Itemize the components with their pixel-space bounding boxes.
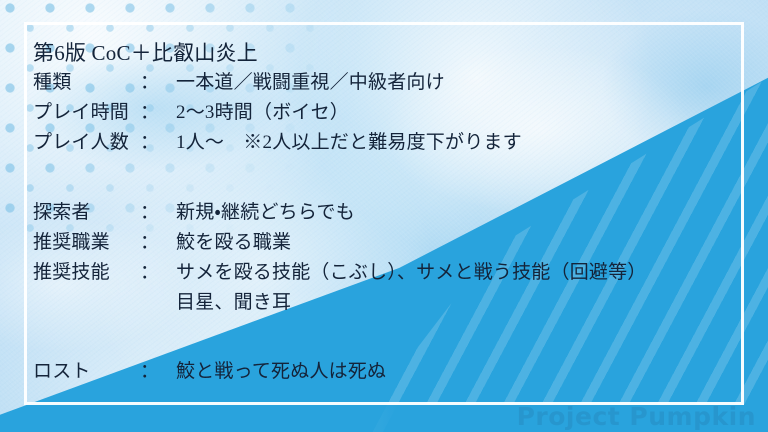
info-colon: ： [140,258,176,288]
info-row: ロスト ： 鮫と戦って死ぬ人は死ぬ [33,357,733,387]
info-row: 種類 ： 一本道／戦闘重視／中級者向け [33,68,733,98]
info-row: 探索者 ： 新規・継続どちらでも [33,198,733,228]
info-label: 推奨技能 [33,258,140,288]
info-value: 新規・継続どちらでも [176,198,733,228]
info-value: 一本道／戦闘重視／中級者向け [176,68,733,98]
info-row: プレイ時間 ： 2〜3時間（ボイセ） [33,98,733,128]
info-value: 2〜3時間（ボイセ） [176,98,733,128]
info-value: 鮫と戦って死ぬ人は死ぬ [176,357,733,387]
scenario-info-slide: Project Pumpkin 第6版 CoC＋比叡山炎上 種類 ： 一本道／戦… [0,0,768,432]
info-row: 推奨技能 ： サメを殴る技能（こぶし）、サメと戦う技能（回避等） [33,258,733,288]
info-value: 目星、聞き耳 [176,288,733,318]
info-value: 1人〜 ※2人以上だと難易度下がります [176,128,733,158]
info-label: 推奨職業 [33,228,140,258]
info-colon: ： [140,128,176,158]
info-label: 種類 [33,68,140,98]
info-colon: ： [140,198,176,228]
info-colon: ： [140,98,176,128]
info-row: 推奨職業 ： 鮫を殴る職業 [33,228,733,258]
info-label: 探索者 [33,198,140,228]
info-value: 鮫を殴る職業 [176,228,733,258]
info-label: ロスト [33,357,140,387]
info-colon: ： [140,357,176,387]
info-label: プレイ時間 [33,98,140,128]
info-group-recommendations: 探索者 ： 新規・継続どちらでも 推奨職業 ： 鮫を殴る職業 推奨技能 ： サメ… [33,198,733,318]
info-row-continuation: ： 目星、聞き耳 [33,288,733,318]
section-spacer [33,158,733,198]
info-row: プレイ人数 ： 1人〜 ※2人以上だと難易度下がります [33,128,733,158]
info-group-lost: ロスト ： 鮫と戦って死ぬ人は死ぬ [33,357,733,387]
info-value: サメを殴る技能（こぶし）、サメと戦う技能（回避等） [176,258,733,288]
section-spacer [33,318,733,357]
project-pumpkin-watermark: Project Pumpkin [517,402,756,431]
slide-title: 第6版 CoC＋比叡山炎上 [33,38,733,68]
info-label: プレイ人数 [33,128,140,158]
info-group-basics: 種類 ： 一本道／戦闘重視／中級者向け プレイ時間 ： 2〜3時間（ボイセ） プ… [33,68,733,158]
slide-content: 第6版 CoC＋比叡山炎上 種類 ： 一本道／戦闘重視／中級者向け プレイ時間 … [33,38,733,387]
info-colon: ： [140,68,176,98]
info-colon: ： [140,228,176,258]
